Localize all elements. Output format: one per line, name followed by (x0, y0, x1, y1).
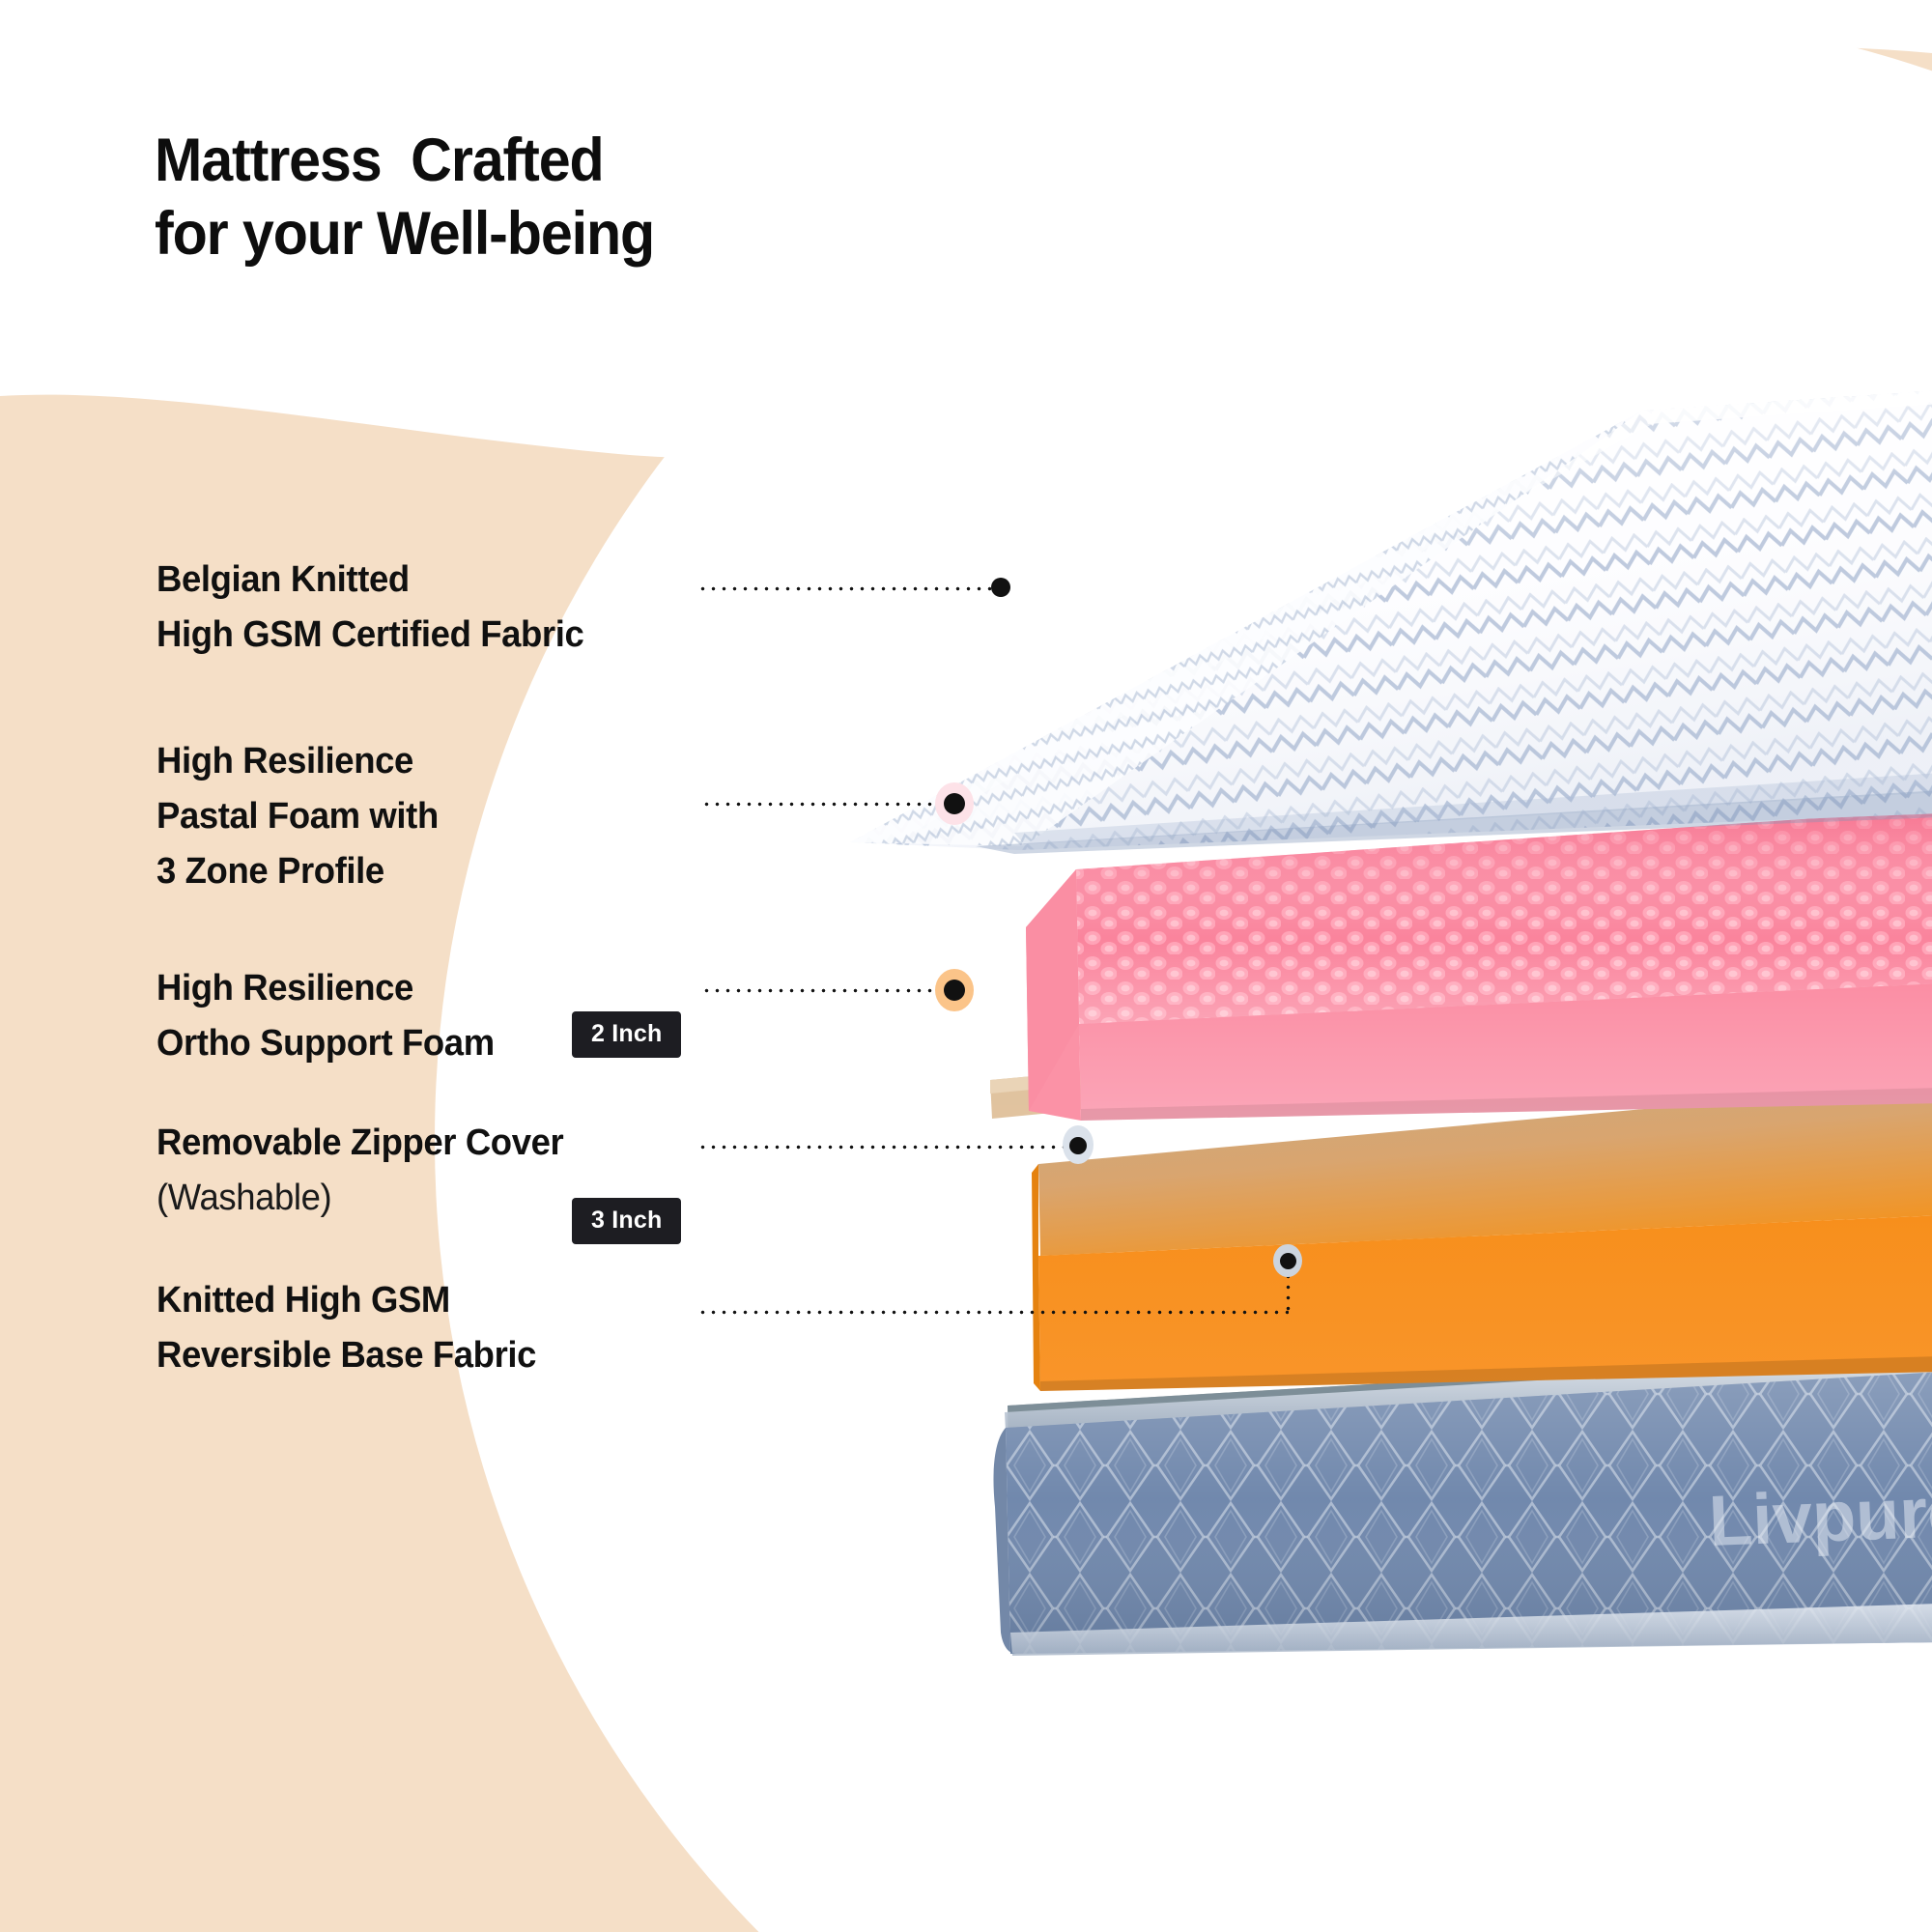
leader-line-base-fabric (697, 1310, 1289, 1315)
label-removable-zipper-cover-line-1: Removable Zipper Cover (156, 1116, 563, 1171)
label-reversible-base-fabric-line-2: Reversible Base Fabric (156, 1328, 536, 1383)
label-pastal-foam: High Resilience Pastal Foam with 3 Zone … (156, 734, 450, 899)
label-belgian-knitted-line-2: High GSM Certified Fabric (156, 608, 583, 663)
leader-line-pastal-foam (701, 802, 947, 807)
leader-line-zipper-cover (697, 1145, 1074, 1150)
label-reversible-base-fabric: Knitted High GSM Reversible Base Fabric (156, 1273, 552, 1383)
label-belgian-knitted: Belgian Knitted High GSM Certified Fabri… (156, 553, 602, 663)
label-ortho-support-foam: High Resilience Ortho Support Foam (156, 961, 508, 1071)
label-removable-zipper-cover: Removable Zipper Cover (Washable) (156, 1116, 581, 1226)
label-removable-zipper-cover-sub: (Washable) (156, 1171, 563, 1226)
marker-dot-pastal-foam-core (944, 793, 965, 814)
brand-watermark: Livpure (1707, 1471, 1932, 1561)
layer-reversible-base-fabric: Livpure (993, 1350, 1932, 1656)
badge-3-inch-label: 3 Inch (591, 1207, 662, 1234)
label-pastal-foam-line-3: 3 Zone Profile (156, 844, 439, 899)
label-ortho-support-foam-line-2: Ortho Support Foam (156, 1016, 495, 1071)
layer-belgian-knitted-fabric (850, 390, 1932, 856)
infographic-canvas: Mattress Crafted for your Well-being (0, 0, 1932, 1932)
label-pastal-foam-line-1: High Resilience (156, 734, 439, 789)
marker-dot-base-fabric-core (1280, 1253, 1296, 1269)
label-column: Belgian Knitted High GSM Certified Fabri… (0, 0, 869, 1932)
layer-pastal-foam (1026, 810, 1932, 1121)
label-belgian-knitted-line-1: Belgian Knitted (156, 553, 583, 608)
badge-2-inch-label: 2 Inch (591, 1020, 662, 1047)
marker-dot-zipper-cover-core (1069, 1137, 1087, 1154)
marker-dot-belgian-knitted (991, 578, 1010, 597)
marker-dot-ortho-support-core (944, 980, 965, 1001)
label-ortho-support-foam-line-1: High Resilience (156, 961, 495, 1016)
leader-line-belgian-knitted (697, 586, 997, 591)
label-reversible-base-fabric-line-1: Knitted High GSM (156, 1273, 536, 1328)
leader-line-ortho-support (701, 988, 947, 993)
layer-ortho-support-foam (1032, 1082, 1932, 1391)
badge-3-inch: 3 Inch (572, 1198, 681, 1244)
badge-2-inch: 2 Inch (572, 1011, 681, 1058)
label-pastal-foam-line-2: Pastal Foam with (156, 789, 439, 844)
